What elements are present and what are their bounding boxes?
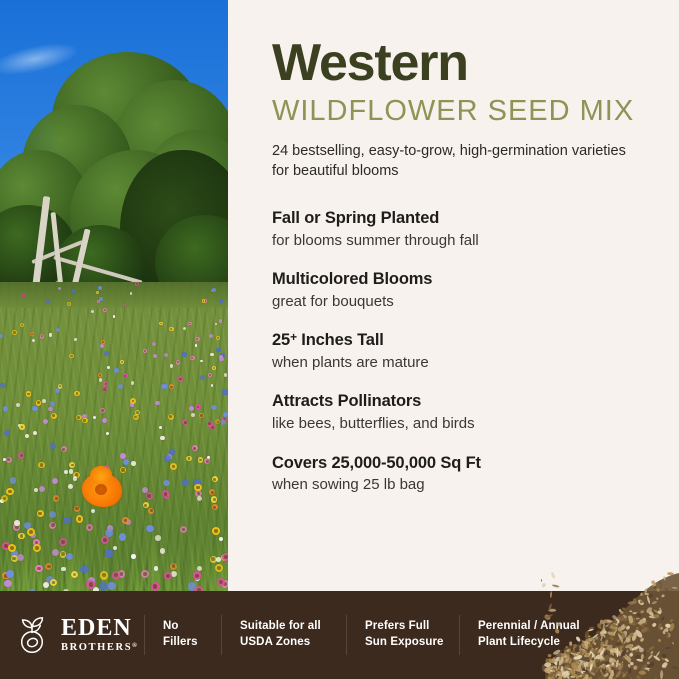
feature-item: Fall or Spring Plantedfor blooms summer … xyxy=(272,208,639,250)
feature-subtext: when sowing 25 lb bag xyxy=(272,475,639,495)
logo-brand-secondary: BROTHERS® xyxy=(61,643,138,654)
trademark-symbol: ® xyxy=(132,642,138,649)
feature-list: Fall or Spring Plantedfor blooms summer … xyxy=(272,208,639,495)
feature-heading: Multicolored Blooms xyxy=(272,269,639,290)
badge-plant-lifecycle: Perennial / Annual Plant Lifecycle xyxy=(460,619,590,651)
badge-usda-zones: Suitable for all USDA Zones xyxy=(222,619,346,651)
feature-heading: Covers 25,000-50,000 Sq Ft xyxy=(272,453,639,474)
logo-brand-primary: EDEN xyxy=(61,616,138,640)
badge-sun-exposure: Prefers Full Sun Exposure xyxy=(347,619,459,651)
wildflower-meadow-photo xyxy=(0,0,228,612)
feature-item: Covers 25,000-50,000 Sq Ftwhen sowing 25… xyxy=(272,453,639,495)
feature-item: 25+ Inches Tallwhen plants are mature xyxy=(272,330,639,372)
feature-subtext: when plants are mature xyxy=(272,353,639,373)
product-infographic-card: Western WILDFLOWER SEED MIX 24 bestselli… xyxy=(0,0,679,679)
footer-content: EDEN BROTHERS® No Fillers Suitable for a… xyxy=(0,591,679,679)
feature-subtext: like bees, butterflies, and birds xyxy=(272,414,639,434)
product-info-panel: Western WILDFLOWER SEED MIX 24 bestselli… xyxy=(228,0,679,612)
eden-brothers-logo[interactable]: EDEN BROTHERS® xyxy=(18,616,144,654)
eden-brothers-sprout-icon xyxy=(18,616,54,654)
feature-item: Multicolored Bloomsgreat for bouquets xyxy=(272,269,639,311)
footer-bar: EDEN BROTHERS® No Fillers Suitable for a… xyxy=(0,591,679,679)
feature-item: Attracts Pollinatorslike bees, butterfli… xyxy=(272,391,639,433)
feature-subtext: for blooms summer through fall xyxy=(272,231,639,251)
orange-poppy-flower xyxy=(82,473,122,507)
feature-heading: 25+ Inches Tall xyxy=(272,330,639,351)
page-title: Western xyxy=(272,36,639,90)
feature-subtext: great for bouquets xyxy=(272,292,639,312)
badge-no-fillers: No Fillers xyxy=(145,619,221,651)
product-subtitle: WILDFLOWER SEED MIX xyxy=(272,94,639,129)
product-description: 24 bestselling, easy-to-grow, high-germi… xyxy=(272,141,632,182)
feature-heading: Fall or Spring Planted xyxy=(272,208,639,229)
meadow-horizon xyxy=(0,282,228,308)
wildflower-meadow xyxy=(0,282,228,612)
logo-wordmark: EDEN BROTHERS® xyxy=(61,616,138,654)
feature-heading: Attracts Pollinators xyxy=(272,391,639,412)
